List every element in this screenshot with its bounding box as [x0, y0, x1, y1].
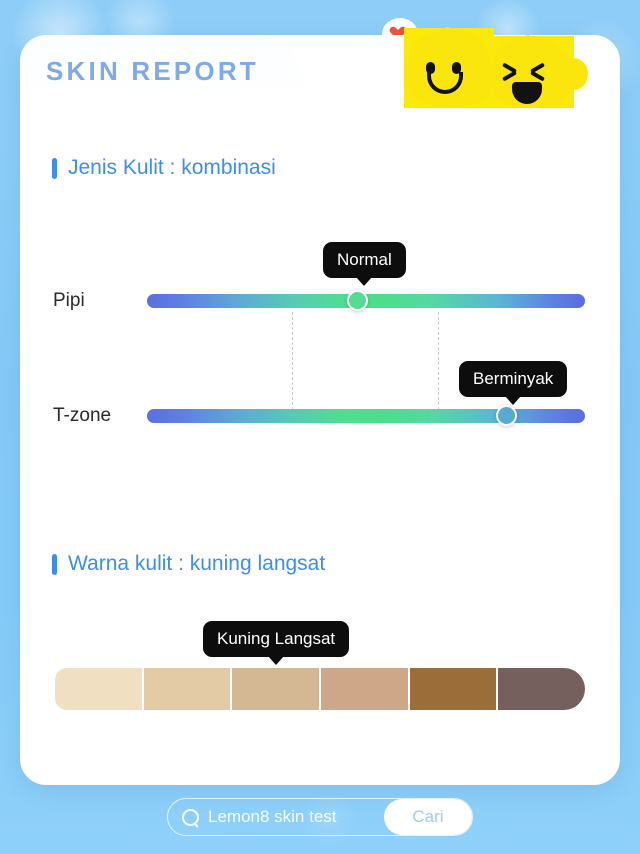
search-bar[interactable]: Lemon8 skin test Cari	[167, 798, 473, 836]
skin-tone-tooltip: Kuning Langsat	[203, 621, 349, 657]
slider-tooltip-pipi: Normal	[323, 242, 406, 278]
heading-bar-icon	[52, 554, 57, 575]
skin-tone-swatch[interactable]	[498, 668, 585, 710]
lemon-face	[486, 36, 574, 108]
zone-divider-right	[438, 312, 439, 410]
skin-type-heading-text: Jenis Kulit : kombinasi	[68, 156, 276, 180]
lemon-smile-face-icon	[404, 28, 494, 108]
skin-tone-swatch[interactable]	[55, 668, 142, 710]
heading-bar-icon	[52, 158, 57, 179]
mouth	[512, 82, 542, 104]
slider-label-pipi: Pipi	[53, 290, 85, 312]
lemon-face	[404, 28, 494, 108]
slider-knob-tzone[interactable]	[496, 405, 517, 426]
slider-tooltip-tzone: Berminyak	[459, 361, 567, 397]
skin-tone-swatch[interactable]	[144, 668, 231, 710]
eye-left-b	[502, 71, 517, 82]
search-input[interactable]: Lemon8 skin test	[168, 799, 384, 835]
search-submit-button[interactable]: Cari	[384, 799, 472, 835]
skin-tone-swatch[interactable]	[321, 668, 408, 710]
skin-color-heading-text: Warna kulit : kuning langsat	[68, 552, 325, 576]
skin-tone-palette[interactable]	[55, 668, 585, 710]
lemon-laugh-face-icon	[486, 36, 574, 108]
skin-report-screen: SKIN REPORT Jenis Kulit : kombinasi Pipi…	[0, 0, 640, 854]
mouth	[427, 72, 463, 94]
page-title: SKIN REPORT	[46, 56, 259, 87]
skin-color-heading: Warna kulit : kuning langsat	[52, 552, 325, 576]
search-placeholder: Lemon8 skin test	[208, 807, 337, 827]
eye-right-b	[530, 71, 545, 82]
slider-label-tzone: T-zone	[53, 405, 111, 427]
zone-divider-left	[292, 312, 293, 410]
skin-tone-swatch[interactable]	[410, 668, 497, 710]
skin-tone-swatch[interactable]	[232, 668, 319, 710]
search-icon	[182, 809, 199, 826]
skin-type-heading: Jenis Kulit : kombinasi	[52, 156, 276, 180]
slider-track-tzone[interactable]	[147, 409, 585, 423]
